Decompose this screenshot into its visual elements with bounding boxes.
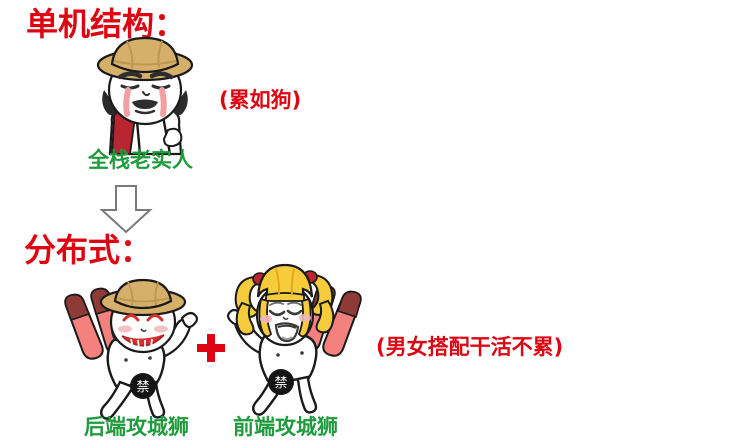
leg-left	[101, 382, 133, 419]
label-frontend-engineer: 前端攻城狮	[233, 417, 338, 438]
tear-left	[126, 90, 128, 114]
hand-right	[182, 313, 197, 327]
censor-label: 禁	[136, 380, 149, 395]
blush-right	[299, 314, 311, 322]
blush-right	[154, 326, 168, 333]
leg-right	[298, 377, 316, 412]
down-arrow-icon	[88, 184, 164, 234]
meme-image-canvas: 单机结构：	[0, 0, 752, 447]
torso-dot-right	[148, 356, 152, 360]
torso-dot-left	[276, 353, 280, 357]
note-distributed-pair: (男女搭配干活不累)	[376, 337, 563, 358]
censor-label: 禁	[274, 376, 287, 391]
arrow-shape	[102, 186, 150, 232]
hat-crown	[115, 280, 171, 308]
blush-left	[118, 326, 132, 333]
torso-dot-right	[300, 351, 304, 355]
torso-dot-left	[124, 358, 128, 362]
label-fullstack-developer: 全栈老实人	[88, 150, 193, 171]
label-backend-engineer: 后端攻城狮	[84, 417, 189, 438]
tear-right	[162, 90, 164, 114]
blush-left	[260, 315, 272, 323]
figure-crying-girl-with-pigtails: 禁	[218, 255, 368, 420]
bangs	[266, 293, 304, 301]
section-title-distributed: 分布式：	[24, 234, 152, 266]
figure-crying-man-with-straw-hat	[82, 34, 208, 154]
note-standalone-tired: (累如狗)	[219, 90, 301, 111]
hat-crown	[112, 38, 178, 72]
figure-grinning-man-with-straw-hat: 禁	[58, 278, 210, 420]
hand	[164, 129, 181, 146]
